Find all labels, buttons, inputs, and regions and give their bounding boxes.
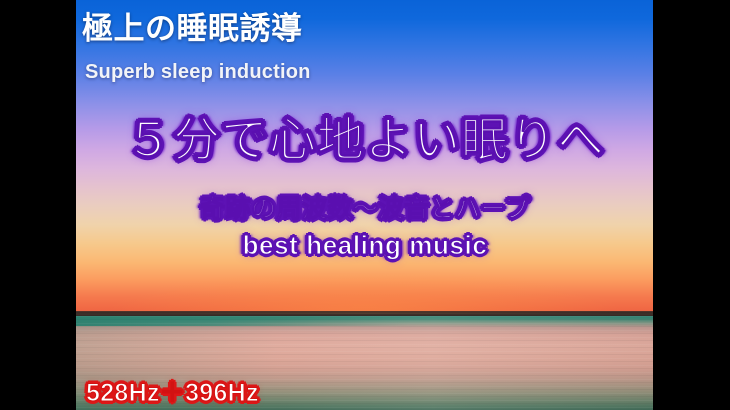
water-sheen	[76, 316, 653, 410]
letterbox-bar-left	[0, 0, 76, 410]
thumbnail-canvas: 極上の睡眠誘導 Superb sleep induction ５分で心地よい眠り…	[0, 0, 730, 410]
background-photo	[76, 0, 653, 410]
letterbox-bar-right	[653, 0, 730, 410]
sun-glow	[76, 250, 653, 314]
